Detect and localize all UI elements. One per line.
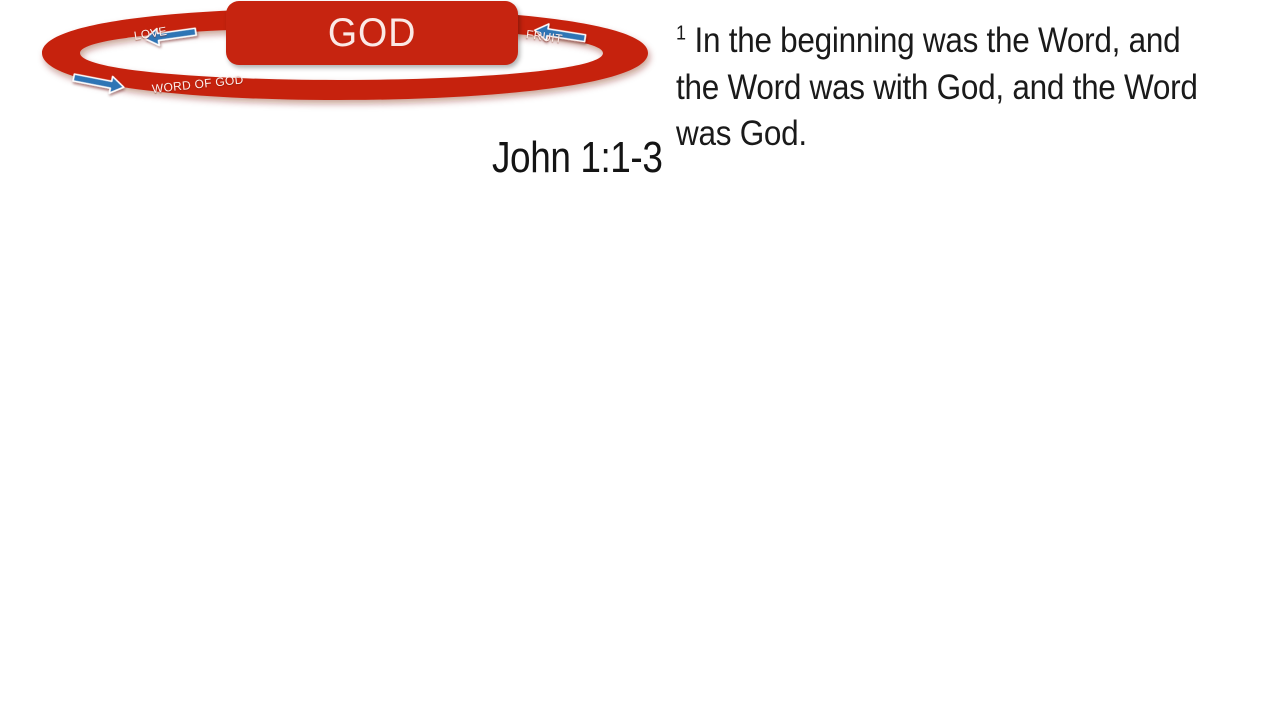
- scripture-passage: 1 In the beginning was the Word, and the…: [676, 18, 1202, 158]
- slide-canvas: GOD LOVE FRUIT WORD OF GOD John 1:1-3 1 …: [0, 0, 1280, 720]
- cycle-center-node-god: GOD: [226, 1, 518, 65]
- cycle-diagram: GOD LOVE FRUIT WORD OF GOD: [28, 0, 668, 126]
- scripture-reference-heading: John 1:1-3: [492, 135, 662, 181]
- god-node-label: GOD: [328, 13, 416, 53]
- verse-number: 1: [676, 22, 686, 44]
- verse-text: In the beginning was the Word, and the W…: [676, 21, 1198, 153]
